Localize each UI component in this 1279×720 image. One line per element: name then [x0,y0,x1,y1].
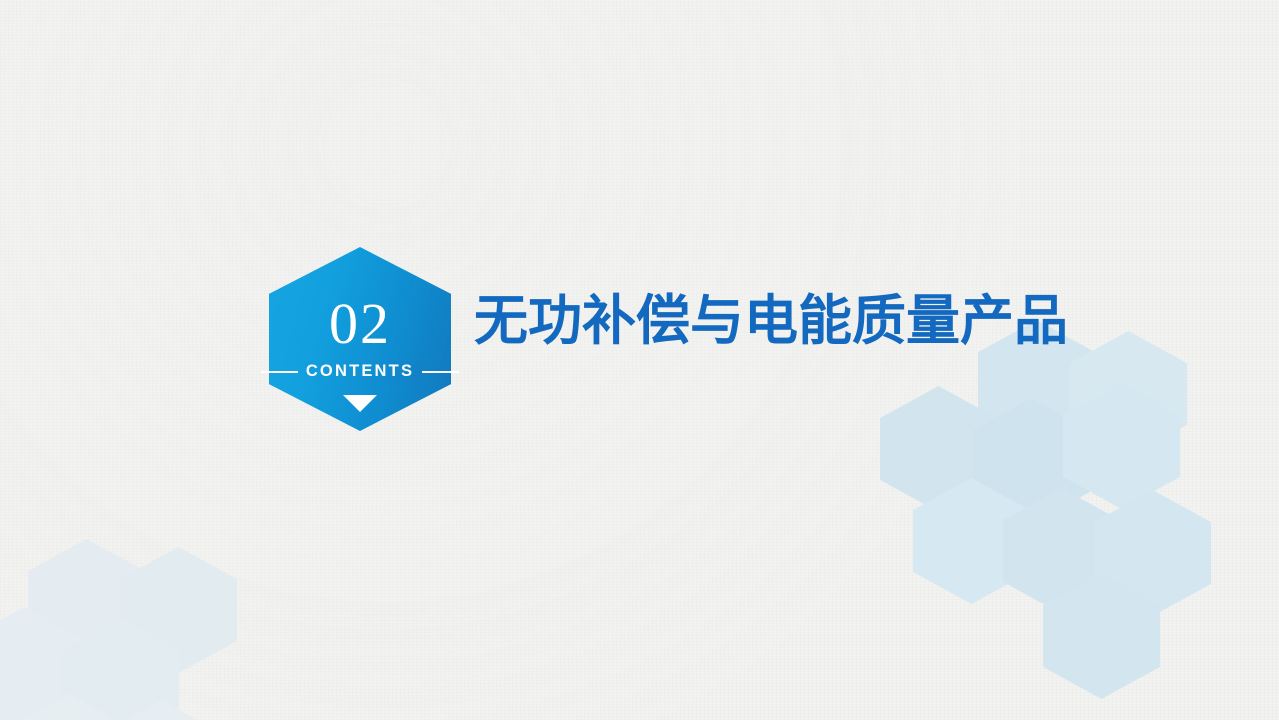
hexagon-shape [1094,490,1211,616]
hexagon-shape [28,539,145,665]
hexagon-shape [1043,573,1160,699]
page-title: 无功补偿与电能质量产品 [474,288,1068,354]
section-number-badge: 02 CONTENTS [269,247,451,431]
hexagon-shape [10,694,127,720]
hexagon-shape [62,618,179,720]
presentation-slide: 02 CONTENTS 无功补偿与电能质量产品 [0,0,1279,720]
hexagon-shape [103,700,220,720]
badge-label-container: CONTENTS [269,361,451,382]
section-number: 02 [269,295,451,353]
hexagon-shape [913,478,1030,604]
hexagon-shape [1063,383,1180,509]
contents-label: CONTENTS [298,361,422,382]
hexagon-shape [973,398,1090,524]
hexagon-shape [1070,331,1187,457]
hexagon-shape [880,386,997,512]
hexagon-decoration-right [0,0,1279,720]
hexagon-shape [1003,488,1120,614]
paper-texture-overlay [0,0,1279,720]
hexagon-shape [120,547,237,673]
hexagon-decoration-left [0,0,1279,720]
triangle-down-icon [343,395,377,412]
hexagon-shape [0,607,83,720]
